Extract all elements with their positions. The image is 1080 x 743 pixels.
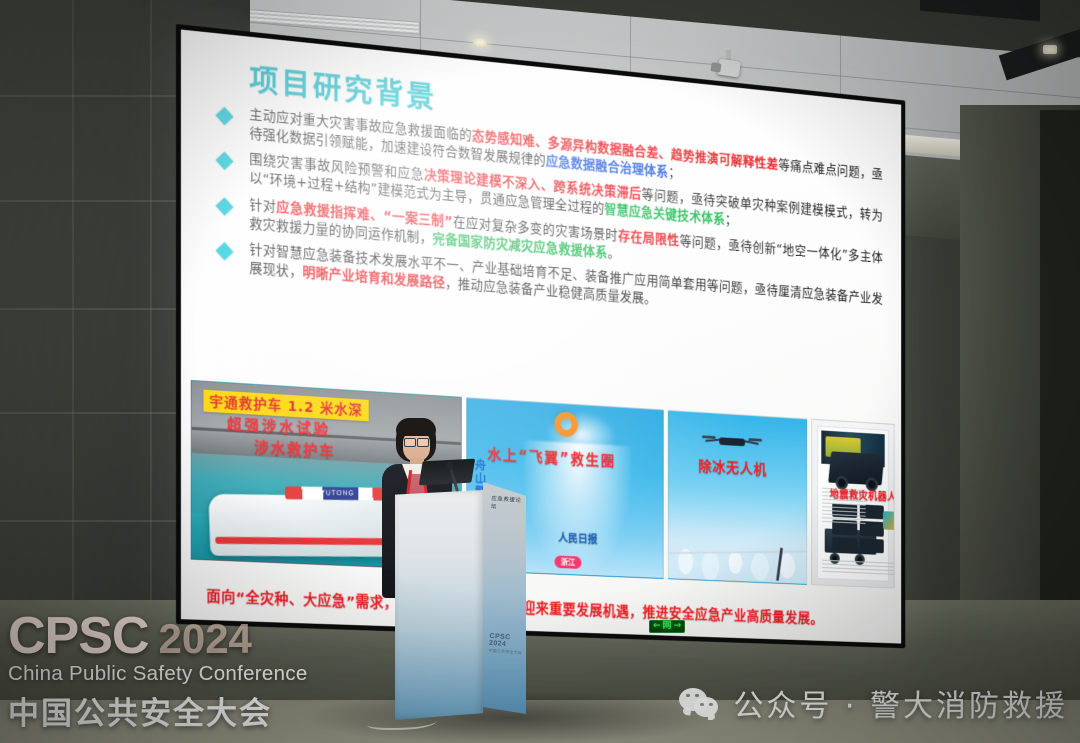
wechat-watermark: 公众号 · 警大消防救援 <box>679 681 1068 725</box>
eyeglasses-icon <box>404 438 429 445</box>
diamond-bullet-icon <box>216 197 234 215</box>
drone-icon <box>702 435 762 448</box>
cpsc-chinese-name: 中国公共安全大会 <box>8 688 308 733</box>
slide-photo-strip: YUTONG 宇通救护车 1.2 米水深 超强涉水试验 涉水救护车 水上“飞翼”… <box>191 380 895 589</box>
speaker-podium: 应急救援论坛 CPSC 2024 中国公共安全大会 <box>395 482 525 727</box>
diamond-bullet-icon <box>216 242 234 260</box>
photo-earthquake-rescue-robot: 地震救灾机器人 <box>811 419 894 589</box>
cpsc-abbrev: CPSC <box>8 613 148 661</box>
ceiling-spotlight <box>1043 45 1057 54</box>
ceiling-recess <box>920 0 1040 21</box>
screen-frame: 项目研究背景 主动应对重大灾害事故应急救援面临的态势感知难、多源异构数据融合差、… <box>176 24 905 648</box>
ceiling-vent <box>240 8 420 34</box>
conference-branding-overlay: CPSC 2024 China Public Safety Conference… <box>8 613 308 733</box>
diamond-bullet-icon <box>216 107 234 125</box>
diamond-bullet-icon <box>216 152 234 170</box>
exit-sign-label: 网 <box>663 622 672 631</box>
projection-screen: 项目研究背景 主动应对重大灾害事故应急救援面临的态势感知难、多源异构数据融合差、… <box>176 24 905 648</box>
lifebuoy-icon <box>555 411 578 437</box>
photo-caption-ambulance-sub2: 涉水救护车 <box>254 436 335 461</box>
presentation-slide: 项目研究背景 主动应对重大灾害事故应急救援面临的态势感知难、多源异构数据融合差、… <box>181 30 901 644</box>
photo-caption-peoples-daily: 人民日报 <box>558 530 597 547</box>
right-wall-shadow <box>1040 110 1080 670</box>
podium-logo-line1: CPSC 2024 <box>489 633 524 649</box>
wechat-watermark-text: 公众号 · 警大消防救援 <box>733 681 1068 725</box>
podium-logo: CPSC 2024 中国公共安全大会 <box>488 633 523 656</box>
security-camera-icon <box>717 58 741 77</box>
photo-deicing-drone: 除冰无人机 <box>668 410 807 585</box>
emergency-exit-sign: ← 网 → <box>649 620 685 633</box>
slide-footer-text: 面向“全灾种、大应急”需求，安全应急装备制造业迎来重要发展机遇，推进安全应急产业… <box>206 585 887 630</box>
cpsc-english-name: China Public Safety Conference <box>8 662 308 686</box>
exit-arrow-right-icon: → <box>674 622 682 631</box>
wechat-icon <box>679 688 721 718</box>
ceiling-spotlight <box>473 37 487 47</box>
cpsc-year: 2024 <box>158 618 251 660</box>
podium-forum-label: 应急救援论坛 <box>490 495 521 514</box>
photo-badge-zhejiang: 浙江 <box>555 555 582 569</box>
photo-caption-drone: 除冰无人机 <box>698 456 767 479</box>
conference-photo-scene: 项目研究背景 主动应对重大灾害事故应急救援面临的态势感知难、多源异构数据融合差、… <box>0 0 1080 743</box>
exit-arrow-left-icon: ← <box>653 622 661 631</box>
